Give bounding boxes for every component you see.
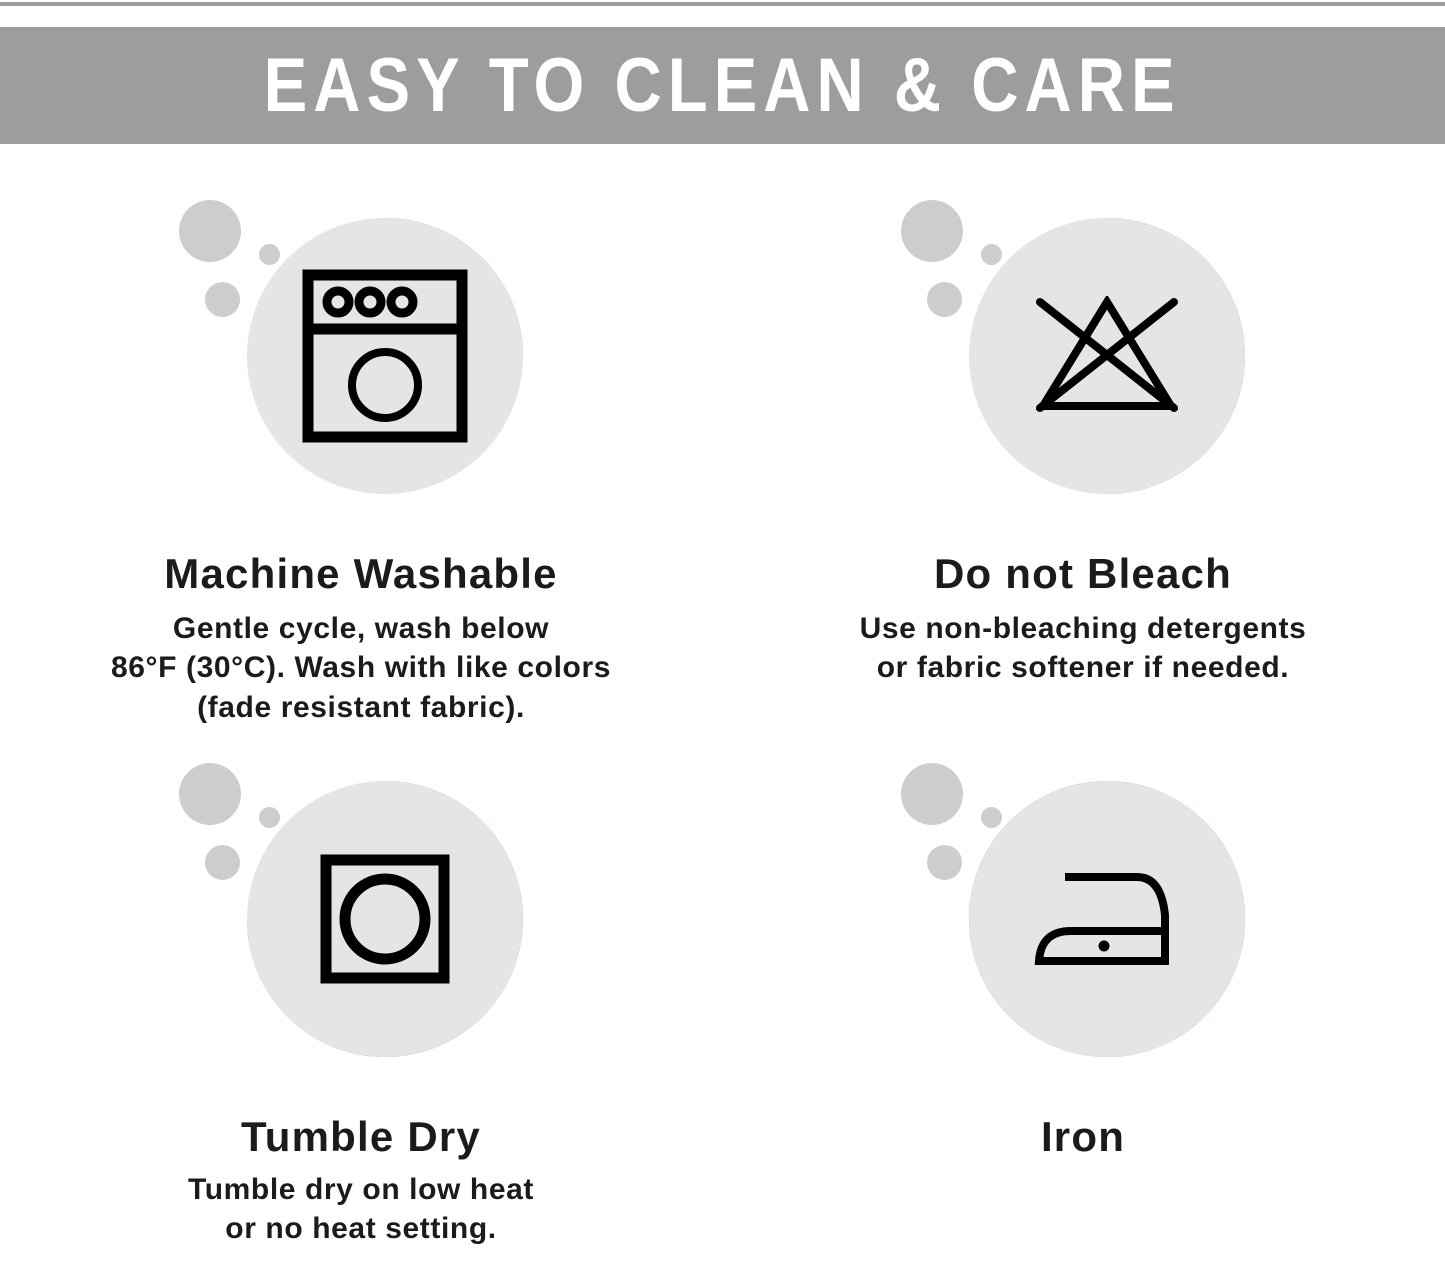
page-title: EASY TO CLEAN & CARE: [264, 48, 1181, 124]
top-divider-rule: [0, 2, 1445, 6]
care-card-tumble-dry: Tumble Dry Tumble dry on low heat or no …: [0, 755, 722, 1249]
care-instructions-infographic: EASY TO CLEAN & CARE: [0, 0, 1445, 1263]
care-card-iron: Iron: [722, 755, 1444, 1162]
card-title: Tumble Dry: [0, 1112, 722, 1162]
card-description: Use non-bleaching detergents or fabric s…: [763, 609, 1403, 688]
card-title: Iron: [722, 1112, 1444, 1162]
tumble-dry-icon: [247, 781, 523, 1057]
icon-badge: [171, 192, 551, 537]
bubble-large-icon: [179, 763, 241, 825]
header-banner: EASY TO CLEAN & CARE: [0, 27, 1445, 144]
icon-badge: [171, 755, 551, 1100]
icon-badge: [893, 192, 1273, 537]
card-description: Gentle cycle, wash below 86°F (30°C). Wa…: [41, 609, 681, 728]
care-card-machine-washable: Machine Washable Gentle cycle, wash belo…: [0, 192, 722, 727]
card-description: Tumble dry on low heat or no heat settin…: [126, 1170, 596, 1249]
bubble-large-icon: [179, 200, 241, 262]
washing-machine-icon: [247, 218, 523, 494]
care-card-grid: Machine Washable Gentle cycle, wash belo…: [0, 144, 1445, 1263]
icon-badge: [893, 755, 1273, 1100]
do-not-bleach-icon: [969, 218, 1245, 494]
card-title: Machine Washable: [0, 549, 722, 599]
care-card-do-not-bleach: Do not Bleach Use non-bleaching detergen…: [722, 192, 1444, 688]
iron-icon: [969, 781, 1245, 1057]
bubble-large-icon: [901, 200, 963, 262]
card-title: Do not Bleach: [722, 549, 1444, 599]
bubble-large-icon: [901, 763, 963, 825]
